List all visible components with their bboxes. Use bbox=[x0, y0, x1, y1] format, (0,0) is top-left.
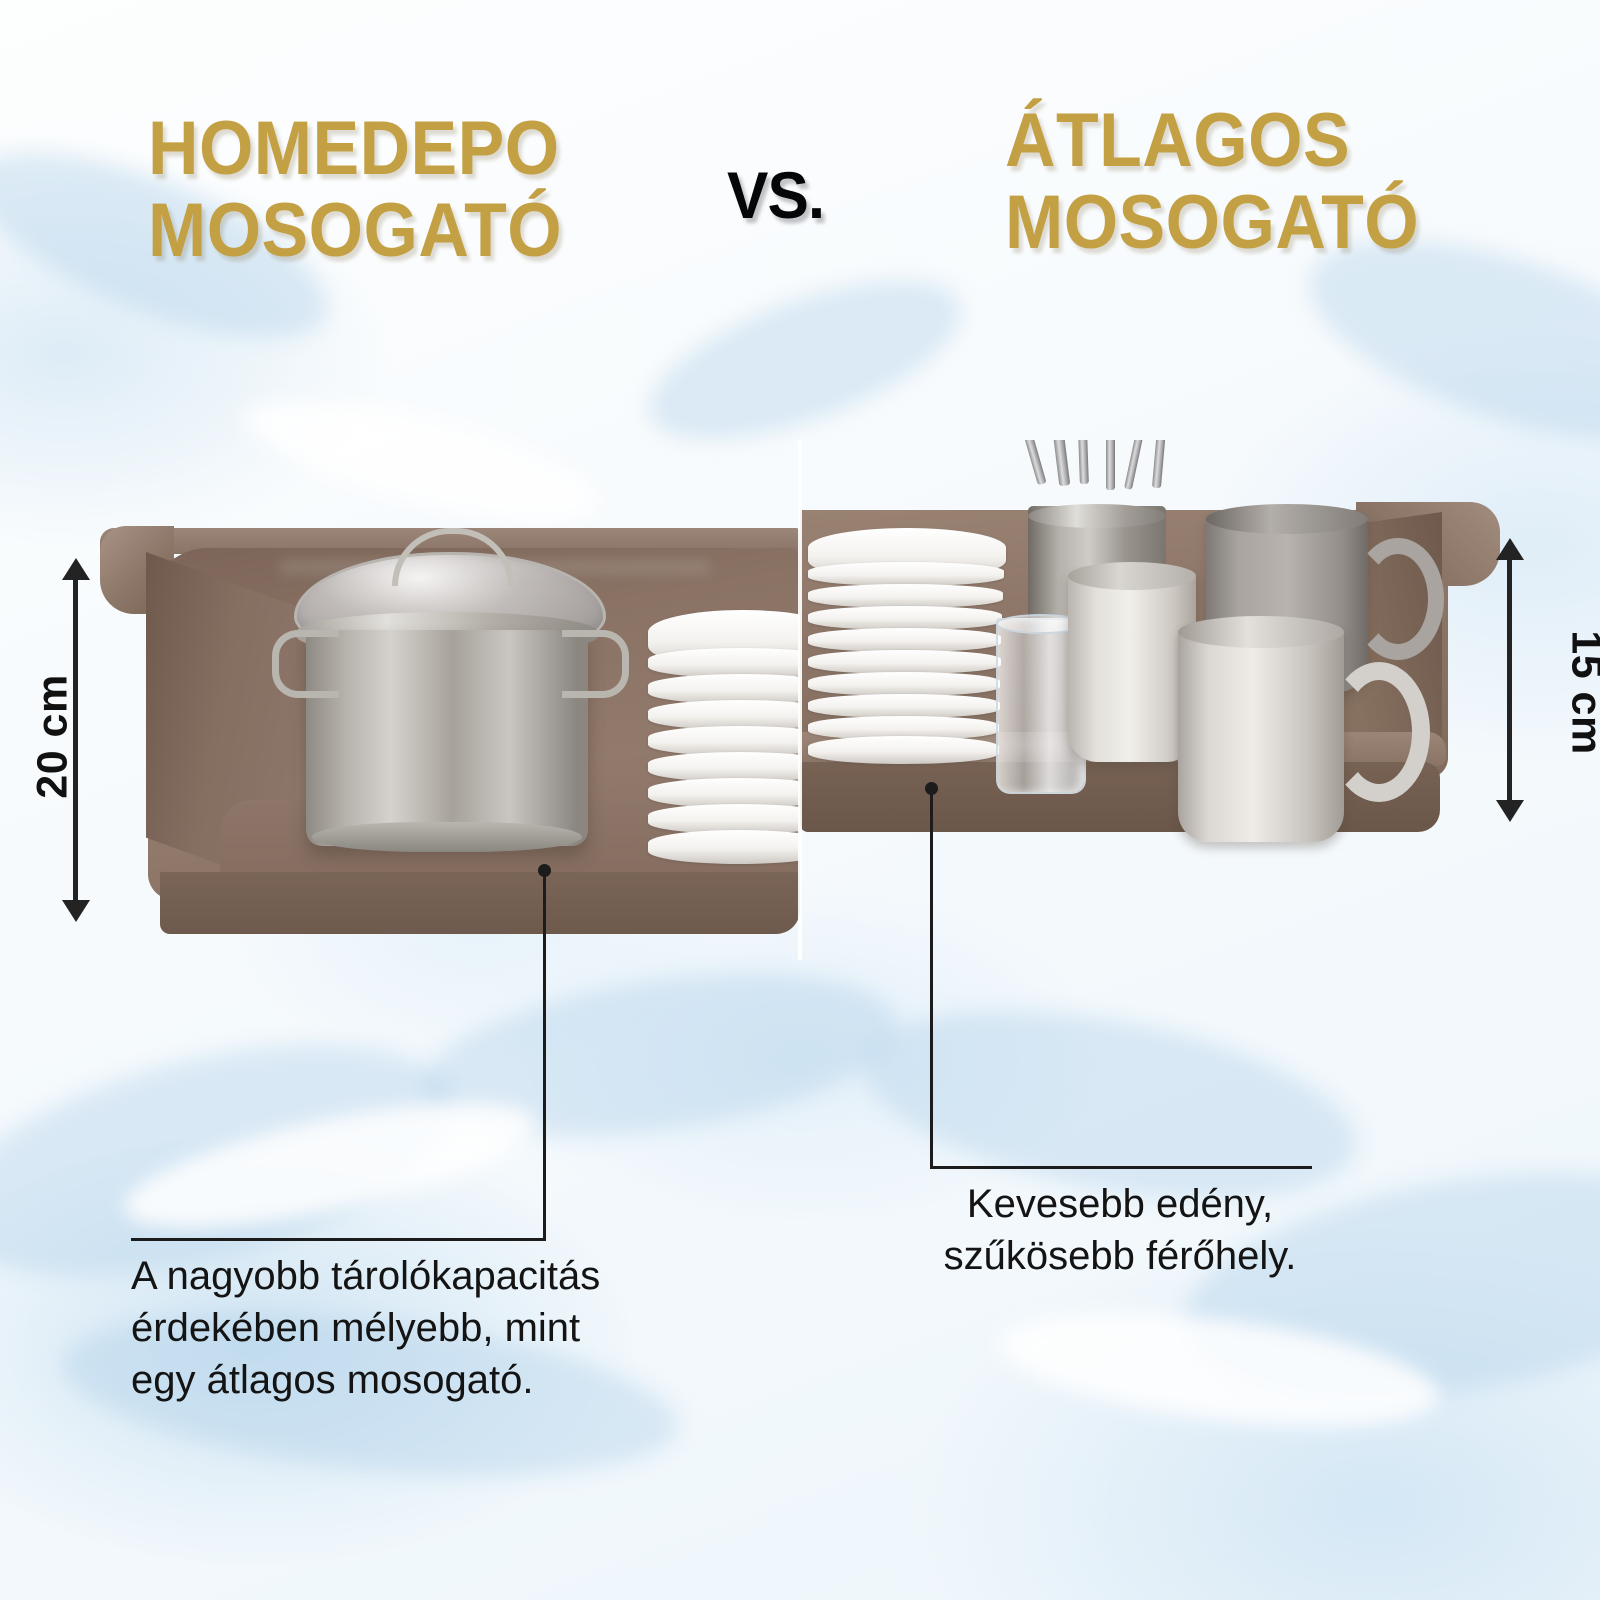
left-sink-photo bbox=[100, 500, 800, 950]
pot-lid-knob bbox=[392, 528, 514, 586]
photo-split-divider bbox=[798, 440, 802, 960]
vs-label: VS. bbox=[727, 157, 824, 233]
left-caption: A nagyobb tárolókapacitás érdekében mély… bbox=[131, 1250, 600, 1406]
right-caption: Kevesebb edény, szűkösebb férőhely. bbox=[930, 1178, 1310, 1282]
mug-front-handle bbox=[1328, 662, 1430, 802]
right-dimension-label: 15 cm bbox=[1562, 630, 1600, 754]
mug-front bbox=[1178, 626, 1344, 842]
comparison-infographic: HOMEDEPO MOSOGATÓ VS. ÁTLAGOS MOSOGATÓ 2… bbox=[0, 0, 1600, 1600]
right-sink-photo bbox=[800, 440, 1500, 870]
right-plate-stack bbox=[808, 528, 1008, 764]
pot-handle-right bbox=[562, 630, 629, 698]
pot-handle-left bbox=[272, 630, 339, 698]
stock-pot bbox=[282, 534, 612, 864]
pot-body bbox=[306, 630, 588, 846]
mug-back-right-handle bbox=[1352, 538, 1444, 660]
left-dimension-label: 20 cm bbox=[29, 674, 78, 798]
mug-back-left bbox=[1068, 570, 1196, 762]
left-plate-stack bbox=[648, 610, 800, 880]
right-title: ÁTLAGOS MOSOGATÓ bbox=[1005, 100, 1419, 264]
left-title: HOMEDEPO MOSOGATÓ bbox=[148, 108, 562, 272]
